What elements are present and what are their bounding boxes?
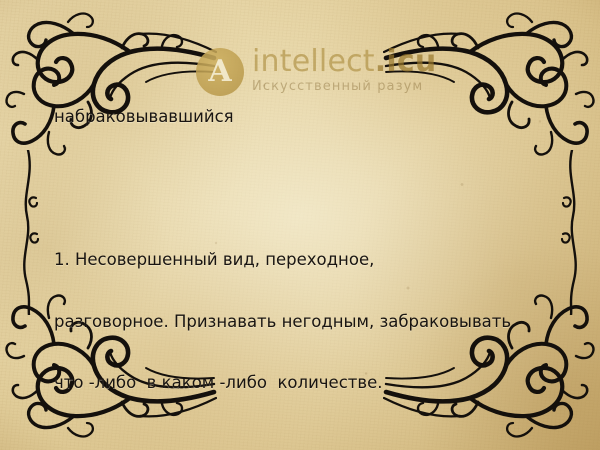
definition-line: разговорное. Признавать негодным, забрак… <box>54 312 566 333</box>
ornament-side-left <box>14 150 40 315</box>
headword: набраковывавшийся <box>54 107 566 128</box>
definition-line: что -либо в каком -либо количестве. <box>54 373 566 394</box>
parchment-page: A intellect.icu Искусственный разум набр… <box>0 0 600 450</box>
definition-line: 1. Несовершенный вид, переходное, <box>54 250 566 271</box>
definition-paragraph: 1. Несовершенный вид, переходное, разгов… <box>54 209 566 435</box>
dictionary-article: набраковывавшийся 1. Несовершенный вид, … <box>54 66 566 450</box>
